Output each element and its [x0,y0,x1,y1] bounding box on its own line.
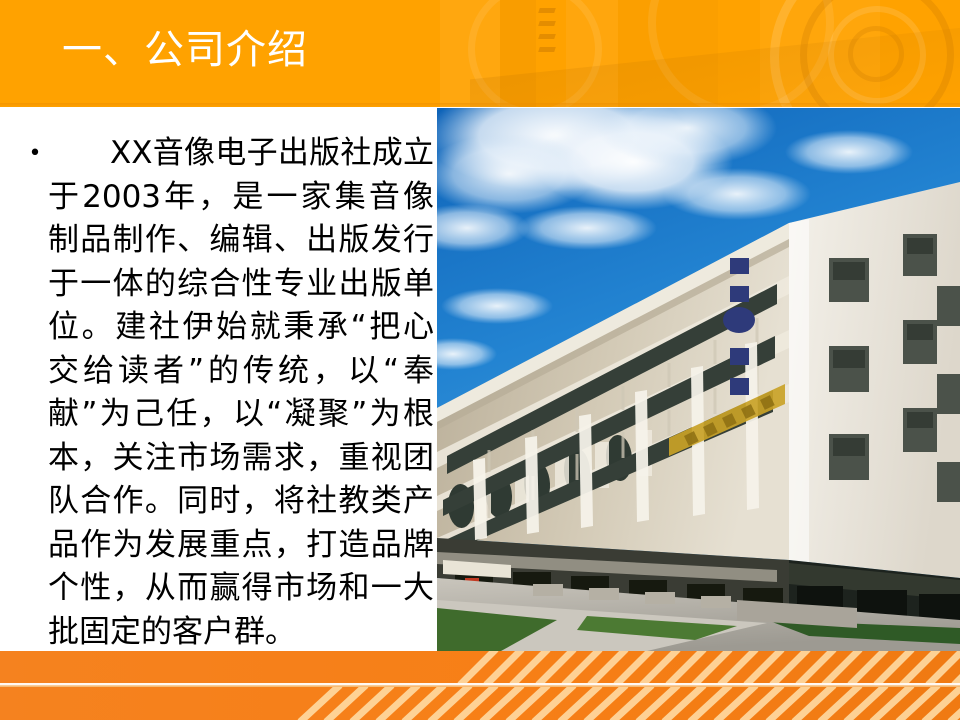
header-swirl-ring-2 [800,0,954,107]
slide-header-band: 一、公司介绍 [0,0,960,107]
header-swirl-ring-6 [468,0,602,107]
header-decor-block-4 [618,0,718,107]
footer-stripe-decoration [0,651,960,720]
header-decor-block-1 [440,0,500,107]
slide-footer-band [0,651,960,720]
content-text-block: • XX音像电子出版社成立于2003年，是一家集音像制品制作、编辑、出版发行于一… [22,132,434,610]
company-building-photo [437,108,960,651]
header-swirl-ring-5 [648,0,834,107]
header-swirl-ring-4 [848,26,904,82]
bullet-point-icon: • [22,132,48,176]
header-decor-block-2 [500,0,536,107]
header-decor-block-5 [760,0,880,107]
company-introduction-paragraph: XX音像电子出版社成立于2003年，是一家集音像制品制作、编辑、出版发行于一体的… [48,132,434,654]
header-diagonal-sweep [470,25,960,107]
header-dash-marks-icon [539,8,555,60]
header-bottom-edge-line [0,103,960,107]
company-building-photo-illustration [437,108,960,651]
page-title: 一、公司介绍 [62,30,308,70]
header-swirl-ring-3 [828,6,926,104]
slide-canvas: 一、公司介绍 • XX音像电子出版社成立于2003年，是一家集音像制品制作、编辑… [0,0,960,720]
header-swirl-ring-1 [770,0,960,107]
header-decor-block-3 [566,0,618,107]
